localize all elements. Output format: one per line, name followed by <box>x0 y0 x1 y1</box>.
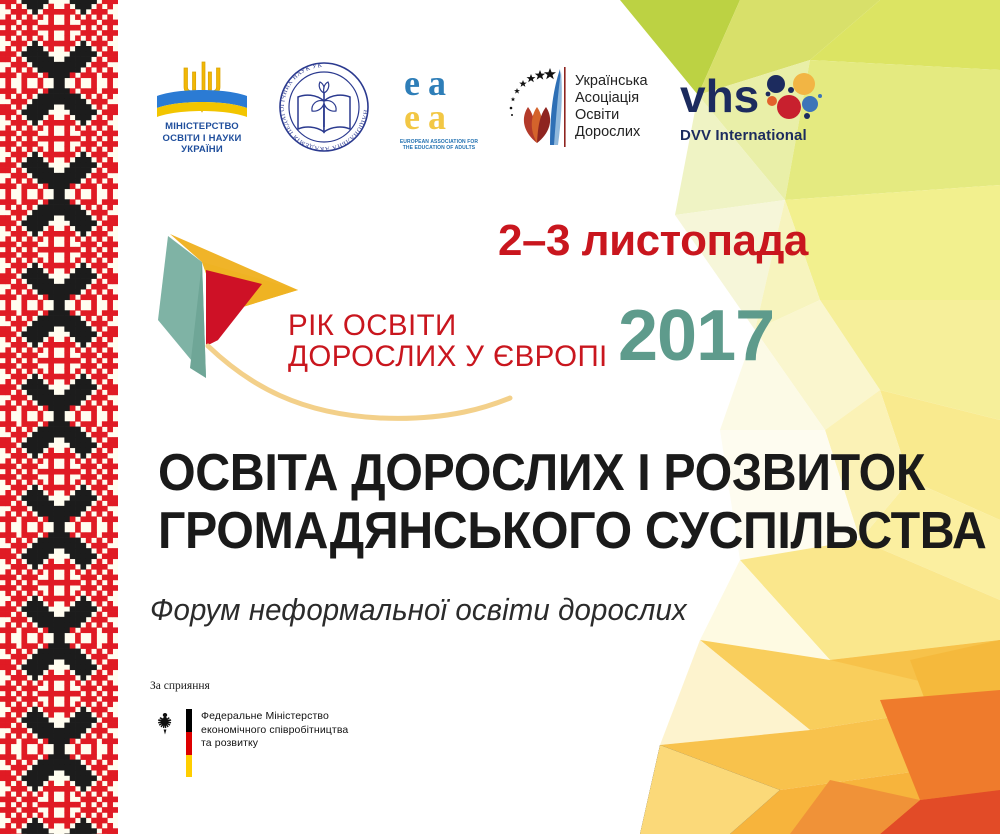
uaod-line-3: Освіти <box>575 107 648 124</box>
yoe-line-2: ДОРОСЛИХ У ЄВРОПІ <box>288 341 608 372</box>
logo-dvv-international: vhs DVV International <box>680 70 820 144</box>
year-2017: 2017 <box>618 300 774 372</box>
poster-headline: ОСВІТА ДОРОСЛИХ І РОЗВИТОК ГРОМАДЯНСЬКОГ… <box>158 444 986 560</box>
headline-line-2: ГРОМАДЯНСЬКОГО СУСПІЛЬСТВА <box>158 502 986 560</box>
flame-stars-icon <box>506 65 568 149</box>
headline-line-1: ОСВІТА ДОРОСЛИХ І РОЗВИТОК <box>158 444 986 502</box>
supporter-label: За сприяння <box>150 680 210 692</box>
dvv-international-label: DVV International <box>680 127 807 144</box>
ornament-tile <box>0 0 118 83</box>
german-flag-bar-icon <box>186 709 192 777</box>
year-of-education-caption: РІК ОСВІТИ ДОРОСЛИХ У ЄВРОПІ <box>288 310 608 372</box>
ornament-tile <box>0 416 118 527</box>
bmz-line-2: економічного співробітництва <box>201 724 348 738</box>
german-ministry-text: Федеральне Міністерство економічного спі… <box>201 709 348 751</box>
poster-subtitle: Форум неформальної освіти дорослих <box>150 592 687 628</box>
svg-text:a: a <box>428 97 446 137</box>
uaod-line-2: Асоціація <box>575 90 648 107</box>
uaod-line-4: Дорослих <box>575 124 648 141</box>
ministry-line-3: УКРАЇНИ <box>163 144 242 156</box>
vhs-dot-cluster <box>766 73 822 119</box>
uaod-logo-text: Українська Асоціація Освіти Дорослих <box>575 73 648 141</box>
logo-eaea: e a e a EUROPEAN ASSOCIATION FOR THE EDU… <box>396 63 482 152</box>
eaea-caption: EUROPEAN ASSOCIATION FOR THE EDUCATION O… <box>400 139 478 152</box>
ornament-tile <box>0 749 118 834</box>
ministry-line-1: МІНІСТЕРСТВО <box>163 121 242 133</box>
eaea-caption-line-2: THE EDUCATION OF ADULTS <box>400 145 478 152</box>
ornament-tile <box>0 527 118 638</box>
ornament-right-edge <box>118 0 121 834</box>
ministry-line-2: ОСВІТИ І НАУКИ <box>163 133 242 145</box>
ornament-tile <box>0 83 118 194</box>
bmz-line-3: та розвитку <box>201 737 348 751</box>
ornament-tile <box>0 305 118 416</box>
vhs-wordmark: vhs <box>680 70 759 122</box>
vyshyvanka-border-ornament <box>0 0 118 834</box>
academy-seal-icon: НАЦІОНАЛЬНА АКАДЕМІЯ ПЕДАГОГІЧНИХ НАУК У… <box>278 61 370 153</box>
uaod-line-1: Українська <box>575 73 648 90</box>
logo-ministry-of-education-ukraine: МІНІСТЕРСТВО ОСВІТИ І НАУКИ УКРАЇНИ <box>150 58 254 156</box>
svg-text:e: e <box>404 97 420 137</box>
vhs-dots-icon: vhs <box>680 70 822 126</box>
logo-ukrainian-adult-education-association: Українська Асоціація Освіти Дорослих <box>506 65 656 149</box>
ministry-logo-text: МІНІСТЕРСТВО ОСВІТИ І НАУКИ УКРАЇНИ <box>163 121 242 156</box>
trident-ribbon-icon <box>154 58 250 120</box>
bmz-line-1: Федеральне Міністерство <box>201 710 348 724</box>
poster-canvas: МІНІСТЕРСТВО ОСВІТИ І НАУКИ УКРАЇНИ <box>0 0 1000 834</box>
bundesadler-eagle-icon <box>150 709 180 739</box>
logo-german-federal-ministry: Федеральне Міністерство економічного спі… <box>150 709 348 777</box>
eaea-mark-icon: e a e a <box>402 63 476 137</box>
ornament-tile <box>0 194 118 305</box>
yoe-line-1: РІК ОСВІТИ <box>288 310 608 341</box>
ornament-tile <box>0 638 118 749</box>
partner-logo-row: МІНІСТЕРСТВО ОСВІТИ І НАУКИ УКРАЇНИ <box>150 52 820 162</box>
logo-national-academy-pedagogical-sciences: НАЦІОНАЛЬНА АКАДЕМІЯ ПЕДАГОГІЧНИХ НАУК У… <box>278 61 372 153</box>
